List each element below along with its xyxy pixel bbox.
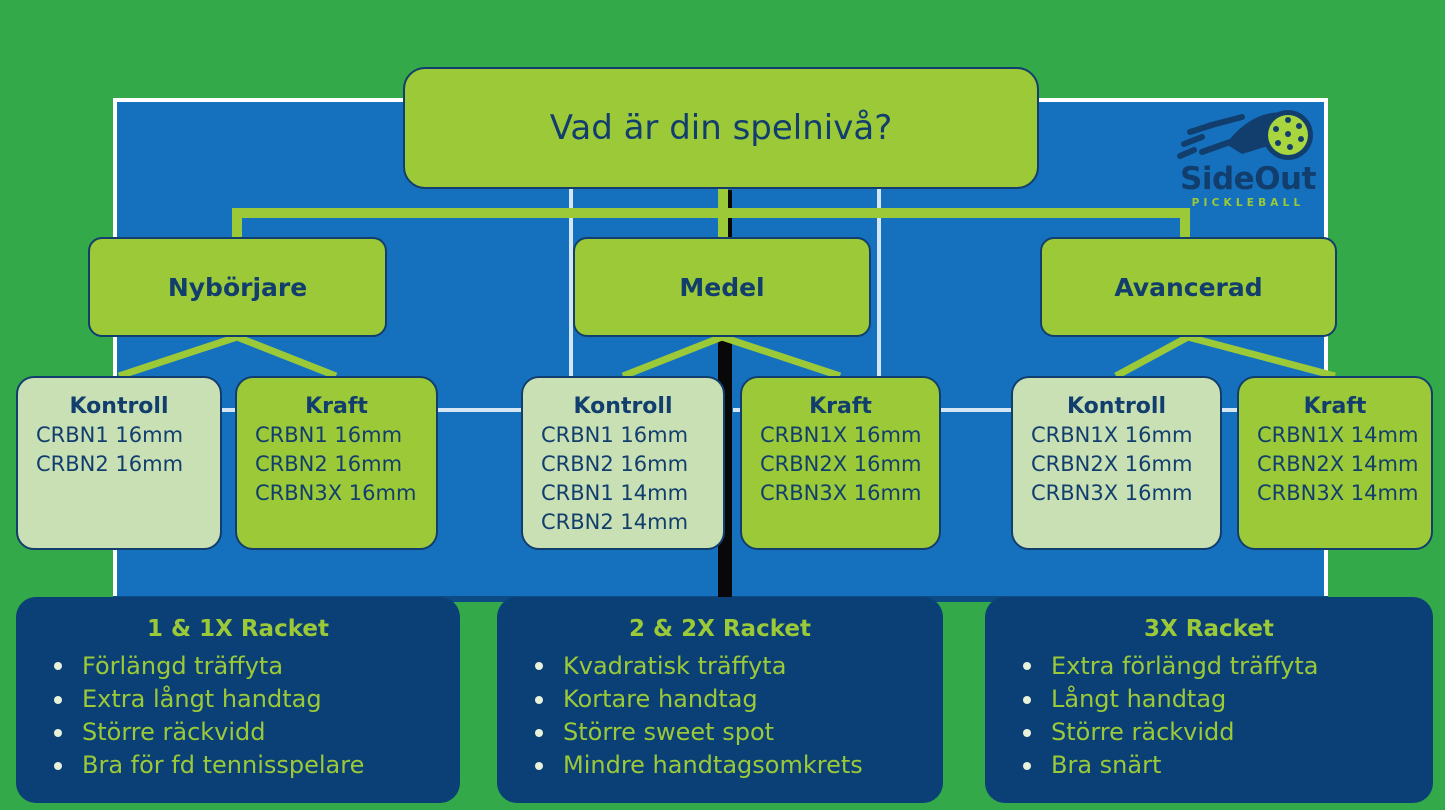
spec-item: CRBN2 16mm [255,450,436,479]
level-box-avancerad[interactable]: Avancerad [1040,237,1337,337]
spec-box-kontroll[interactable]: Kontroll CRBN1 16mmCRBN2 16mm [16,376,222,550]
panel-bullet-list: Extra förlängd träffytaLångt handtagStör… [985,650,1433,782]
logo-tagline: PICKLEBALL [1168,197,1328,209]
panel-bullet-item: Långt handtag [1013,683,1433,716]
spec-item: CRBN1 16mm [36,421,220,450]
level-label: Medel [575,239,869,335]
spec-title: Kraft [742,394,939,419]
root-question-label: Vad är din spelnivå? [405,69,1037,187]
racket-panel-2-2x[interactable]: 2 & 2X Racket Kvadratisk träffytaKortare… [497,597,943,803]
bullet-dot-icon [535,696,543,704]
bullet-dot-icon [535,662,543,670]
bullet-dot-icon [535,762,543,770]
spec-title: Kraft [237,394,436,419]
spec-title: Kontroll [1013,394,1220,419]
spec-list: CRBN1X 16mmCRBN2X 16mmCRBN3X 16mm [1013,421,1220,508]
panel-bullet-item: Kortare handtag [525,683,943,716]
bullet-dot-icon [1023,762,1031,770]
bullet-dot-icon [54,696,62,704]
spec-item: CRBN1X 14mm [1257,421,1431,450]
infographic-canvas: SideOut PICKLEBALL Vad är din spelnivå? … [0,0,1445,810]
spec-list: CRBN1X 14mmCRBN2X 14mmCRBN3X 14mm [1239,421,1431,508]
spec-item: CRBN1 16mm [255,421,436,450]
brand-logo: SideOut PICKLEBALL [1168,104,1328,216]
panel-bullet-item: Mindre handtagsomkrets [525,749,943,782]
spec-item: CRBN2 16mm [541,450,723,479]
bullet-dot-icon [1023,729,1031,737]
spec-box-kraft[interactable]: Kraft CRBN1 16mmCRBN2 16mmCRBN3X 16mm [235,376,438,550]
level-label: Nybörjare [90,239,385,335]
panel-bullet-list: Kvadratisk träffytaKortare handtagStörre… [497,650,943,782]
logo-wordmark: SideOut [1168,164,1328,195]
spec-box-kontroll[interactable]: Kontroll CRBN1 16mmCRBN2 16mmCRBN1 14mmC… [521,376,725,550]
panel-bullet-item: Bra snärt [1013,749,1433,782]
spec-list: CRBN1 16mmCRBN2 16mmCRBN1 14mmCRBN2 14mm [523,421,723,537]
spec-item: CRBN3X 16mm [1031,479,1220,508]
bullet-dot-icon [54,729,62,737]
racket-panel-3x[interactable]: 3X Racket Extra förlängd träffytaLångt h… [985,597,1433,803]
bullet-dot-icon [54,662,62,670]
bullet-dot-icon [1023,696,1031,704]
panel-bullet-item: Kvadratisk träffyta [525,650,943,683]
spec-item: CRBN2X 14mm [1257,450,1431,479]
spec-title: Kontroll [523,394,723,419]
spec-item: CRBN1 14mm [541,479,723,508]
panel-bullet-item: Större räckvidd [44,716,460,749]
spec-list: CRBN1 16mmCRBN2 16mm [18,421,220,479]
racket-panel-1-1x[interactable]: 1 & 1X Racket Förlängd träffytaExtra lån… [16,597,460,803]
panel-bullet-item: Bra för fd tennisspelare [44,749,460,782]
panel-bullet-list: Förlängd träffytaExtra långt handtagStör… [16,650,460,782]
root-question-box[interactable]: Vad är din spelnivå? [403,67,1039,189]
panel-bullet-item: Extra förlängd träffyta [1013,650,1433,683]
panel-bullet-item: Förlängd träffyta [44,650,460,683]
panel-title: 3X Racket [985,616,1433,642]
spec-list: CRBN1X 16mmCRBN2X 16mmCRBN3X 16mm [742,421,939,508]
panel-bullet-item: Extra långt handtag [44,683,460,716]
level-box-nyborjare[interactable]: Nybörjare [88,237,387,337]
spec-box-kontroll[interactable]: Kontroll CRBN1X 16mmCRBN2X 16mmCRBN3X 16… [1011,376,1222,550]
spec-item: CRBN2X 16mm [760,450,939,479]
spec-item: CRBN1X 16mm [760,421,939,450]
spec-item: CRBN1 16mm [541,421,723,450]
spec-item: CRBN3X 14mm [1257,479,1431,508]
spec-box-kraft[interactable]: Kraft CRBN1X 14mmCRBN2X 14mmCRBN3X 14mm [1237,376,1433,550]
panel-title: 1 & 1X Racket [16,616,460,642]
spec-item: CRBN3X 16mm [255,479,436,508]
panel-bullet-item: Större räckvidd [1013,716,1433,749]
panel-title: 2 & 2X Racket [497,616,943,642]
bullet-dot-icon [1023,662,1031,670]
spec-box-kraft[interactable]: Kraft CRBN1X 16mmCRBN2X 16mmCRBN3X 16mm [740,376,941,550]
spec-item: CRBN1X 16mm [1031,421,1220,450]
spec-item: CRBN2X 16mm [1031,450,1220,479]
spec-title: Kraft [1239,394,1431,419]
spec-title: Kontroll [18,394,220,419]
spec-item: CRBN3X 16mm [760,479,939,508]
level-box-medel[interactable]: Medel [573,237,871,337]
spec-list: CRBN1 16mmCRBN2 16mmCRBN3X 16mm [237,421,436,508]
bullet-dot-icon [54,762,62,770]
level-label: Avancerad [1042,239,1335,335]
spec-item: CRBN2 16mm [36,450,220,479]
bullet-dot-icon [535,729,543,737]
panel-bullet-item: Större sweet spot [525,716,943,749]
spec-item: CRBN2 14mm [541,508,723,537]
